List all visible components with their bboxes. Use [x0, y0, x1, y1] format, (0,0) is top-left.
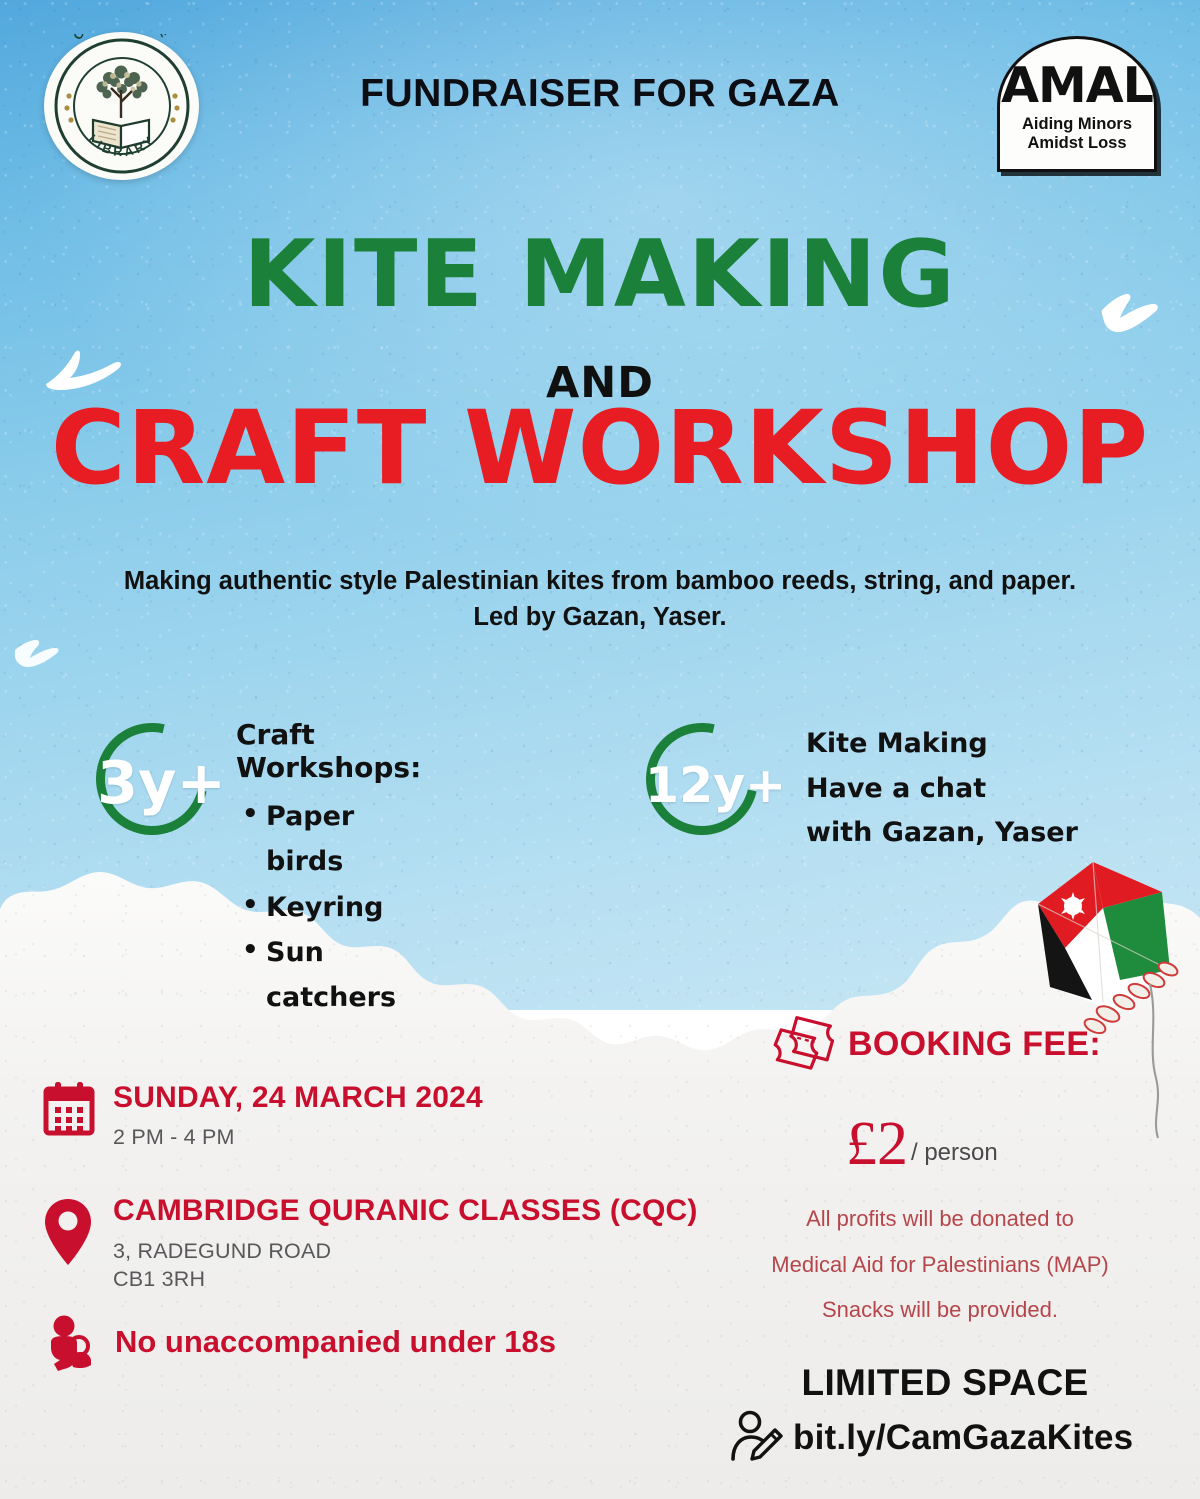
list-item: Paper birds: [236, 794, 421, 885]
event-location-icon-wrap: [42, 1197, 94, 1267]
adult-with-child-icon: [43, 1315, 99, 1377]
craft-workshops-list: Paper birds Keyring Sun catchers: [236, 794, 421, 1021]
donation-note-2: Medical Aid for Palestinians (MAP): [730, 1242, 1150, 1288]
palestinian-flag-kite-icon: [1000, 852, 1200, 1142]
signup-url-link[interactable]: bit.ly/CamGazaKites: [793, 1418, 1133, 1458]
event-venue: CAMBRIDGE QURANIC CLASSES (CQC): [113, 1194, 698, 1228]
seagull-icon: [12, 632, 72, 674]
age-badge-3y: 3y+: [97, 748, 226, 817]
limited-space-text: LIMITED SPACE: [735, 1362, 1155, 1404]
age-policy-text: No unaccompanied under 18s: [115, 1324, 556, 1360]
fundraiser-heading: FUNDRAISER FOR GAZA: [0, 72, 1200, 116]
title-kite-making: KITE MAKING: [0, 228, 1200, 321]
list-item: Keyring: [236, 885, 421, 930]
event-location-block: CAMBRIDGE QURANIC CLASSES (CQC) 3, RADEG…: [113, 1194, 698, 1294]
list-item: Sun catchers: [236, 930, 421, 1021]
workshop-description: Making authentic style Palestinian kites…: [60, 563, 1140, 635]
age-badge-12y: 12y+: [645, 757, 786, 814]
event-date-block: SUNDAY, 24 MARCH 2024 2 PM - 4 PM: [113, 1081, 483, 1151]
kite-making-line: Kite Making: [806, 722, 1078, 767]
description-line1: Making authentic style Palestinian kites…: [60, 563, 1140, 599]
person-with-pencil-icon: [728, 1409, 786, 1467]
amal-tagline-line2: Amidst Loss: [1022, 134, 1132, 153]
event-time: 2 PM - 4 PM: [113, 1123, 483, 1151]
event-postcode: CB1 3RH: [113, 1265, 698, 1293]
donation-note-3: Snacks will be provided.: [730, 1287, 1150, 1333]
booking-price-unit: / person: [911, 1139, 998, 1167]
description-line2: Led by Gazan, Yaser.: [60, 599, 1140, 635]
age-policy-icon-wrap: [43, 1315, 99, 1377]
booking-price: £2: [846, 1115, 908, 1174]
have-a-chat-line: Have a chat: [806, 767, 1078, 812]
booking-fee-heading: BOOKING FEE:: [848, 1025, 1101, 1064]
amal-tagline-line1: Aiding Minors: [1022, 115, 1132, 134]
event-address-line1: 3, RADEGUND ROAD: [113, 1237, 698, 1265]
event-date-icon-wrap: [42, 1081, 96, 1137]
poster-root: OLIVE TREE LIBRARY AMAL Aiding Minors Am…: [0, 0, 1200, 1499]
ticket-icon: [770, 1012, 836, 1074]
donation-note-1: All profits will be donated to: [730, 1196, 1150, 1242]
booking-price-wrap: £2 / person: [846, 1115, 998, 1174]
age-12y-content: Kite Making Have a chat with Gazan, Yase…: [806, 722, 1078, 856]
title-craft-workshop: CRAFT WORKSHOP: [0, 398, 1200, 500]
age-3y-content: Craft Workshops: Paper birds Keyring Sun…: [236, 718, 421, 1021]
amal-logo-tagline: Aiding Minors Amidst Loss: [1022, 115, 1132, 154]
calendar-icon: [42, 1081, 96, 1137]
booking-notes: All profits will be donated to Medical A…: [730, 1196, 1150, 1333]
age-policy-block: No unaccompanied under 18s: [115, 1324, 556, 1360]
event-date-title: SUNDAY, 24 MARCH 2024: [113, 1081, 483, 1115]
craft-workshops-heading: Craft Workshops:: [236, 718, 421, 784]
with-gazan-line: with Gazan, Yaser: [806, 811, 1078, 856]
map-pin-icon: [42, 1197, 94, 1267]
